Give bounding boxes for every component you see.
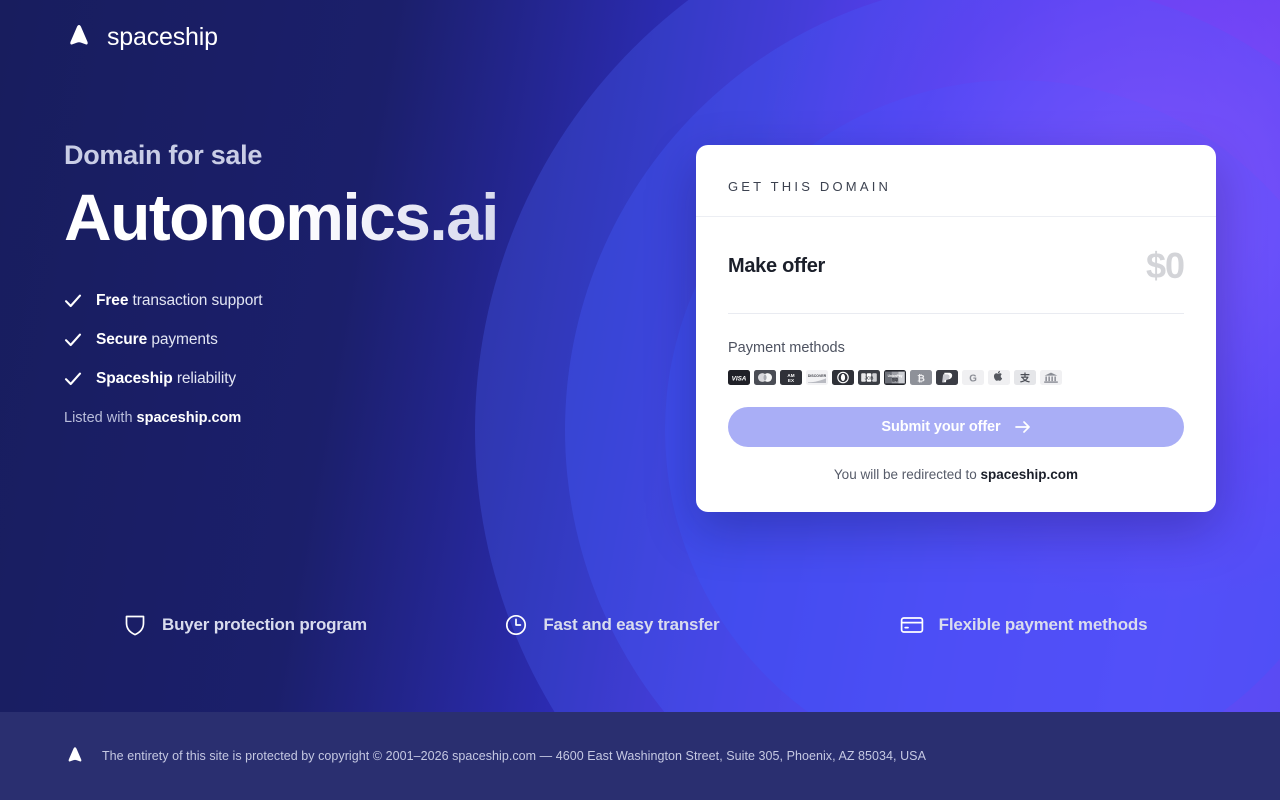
bitcoin-icon: ₿ (910, 370, 932, 385)
spaceship-arrowhead-icon (64, 22, 94, 52)
payment-methods-label: Payment methods (728, 340, 1184, 356)
benefit-label: Fast and easy transfer (543, 615, 719, 635)
site-footer: The entirety of this site is protected b… (0, 712, 1280, 800)
list-item: Free transaction support (64, 292, 664, 310)
benefit-flexible-payments: Flexible payment methods (821, 612, 1216, 638)
benefits-strip: Buyer protection program Fast and easy t… (64, 612, 1216, 638)
alipay-icon: 支 (1014, 370, 1036, 385)
benefit-fast-transfer: Fast and easy transfer (439, 612, 820, 638)
spaceship-arrowhead-icon (64, 745, 86, 767)
feature-strong: Secure (96, 331, 147, 348)
bank-transfer-icon (1040, 370, 1062, 385)
shield-icon (122, 612, 148, 638)
feature-rest: payments (147, 331, 218, 348)
listed-brand[interactable]: spaceship.com (137, 410, 242, 426)
mastercard-icon (754, 370, 776, 385)
list-item: Spaceship reliability (64, 370, 664, 388)
clock-icon (503, 612, 529, 638)
brand-name: spaceship (107, 23, 218, 52)
diners-club-icon (832, 370, 854, 385)
visa-icon: VISA (728, 370, 750, 385)
benefit-label: Buyer protection program (162, 615, 367, 635)
feature-rest: reliability (173, 370, 236, 387)
credit-card-icon (899, 612, 925, 638)
feature-strong: Spaceship (96, 370, 173, 387)
submit-offer-label: Submit your offer (881, 419, 1000, 435)
feature-strong: Free (96, 292, 128, 309)
svg-text:银联: 银联 (892, 377, 899, 382)
feature-list: Free transaction support Secure payments… (64, 292, 664, 388)
page-root: spaceship Domain for sale Autonomics.ai … (0, 0, 1280, 800)
card-header: GET THIS DOMAIN (696, 145, 1216, 217)
hero-eyebrow: Domain for sale (64, 140, 664, 171)
listed-prefix: Listed with (64, 410, 137, 426)
feature-label: Secure payments (96, 331, 218, 349)
jcb-icon: JCB (858, 370, 880, 385)
amex-icon: AMEX (780, 370, 802, 385)
submit-offer-button[interactable]: Submit your offer (728, 407, 1184, 447)
offer-card: GET THIS DOMAIN Make offer $0 Payment me… (696, 145, 1216, 512)
hero-section: Domain for sale Autonomics.ai Free trans… (64, 140, 664, 426)
offer-input-row[interactable]: Make offer $0 (728, 245, 1184, 314)
google-pay-icon: G (962, 370, 984, 385)
arrow-right-icon (1015, 420, 1031, 434)
apple-pay-icon (988, 370, 1010, 385)
paypal-icon (936, 370, 958, 385)
svg-text:JCB: JCB (865, 375, 874, 380)
footer-copyright: The entirety of this site is protected b… (102, 749, 926, 763)
feature-label: Free transaction support (96, 292, 262, 310)
benefit-buyer-protection: Buyer protection program (64, 612, 439, 638)
discover-icon: DISCOVER (806, 370, 828, 385)
listed-with: Listed with spaceship.com (64, 410, 664, 426)
payment-methods-list: VISA AMEX DISCOVER JCB UnionPa (728, 370, 1184, 385)
feature-label: Spaceship reliability (96, 370, 236, 388)
list-item: Secure payments (64, 331, 664, 349)
svg-text:EX: EX (788, 378, 795, 383)
domain-name: Autonomics.ai (64, 183, 664, 252)
check-icon (64, 292, 82, 310)
feature-rest: transaction support (128, 292, 262, 309)
redirect-prefix: You will be redirected to (834, 467, 981, 482)
unionpay-icon: UnionPay银联 (884, 370, 906, 385)
card-body: Make offer $0 Payment methods VISA AMEX … (696, 217, 1216, 512)
offer-amount-input[interactable]: $0 (1146, 245, 1184, 287)
make-offer-label: Make offer (728, 255, 825, 278)
check-icon (64, 370, 82, 388)
check-icon (64, 331, 82, 349)
redirect-note: You will be redirected to spaceship.com (728, 467, 1184, 482)
card-eyebrow: GET THIS DOMAIN (728, 179, 1184, 194)
footer-inner: The entirety of this site is protected b… (0, 745, 926, 767)
benefit-label: Flexible payment methods (939, 615, 1148, 635)
redirect-brand: spaceship.com (981, 467, 1079, 482)
svg-text:G: G (969, 373, 977, 384)
svg-text:VISA: VISA (732, 376, 747, 383)
svg-text:支: 支 (1019, 372, 1031, 385)
svg-text:DISCOVER: DISCOVER (808, 374, 827, 378)
svg-text:₿: ₿ (917, 373, 925, 384)
site-header[interactable]: spaceship (64, 22, 218, 52)
